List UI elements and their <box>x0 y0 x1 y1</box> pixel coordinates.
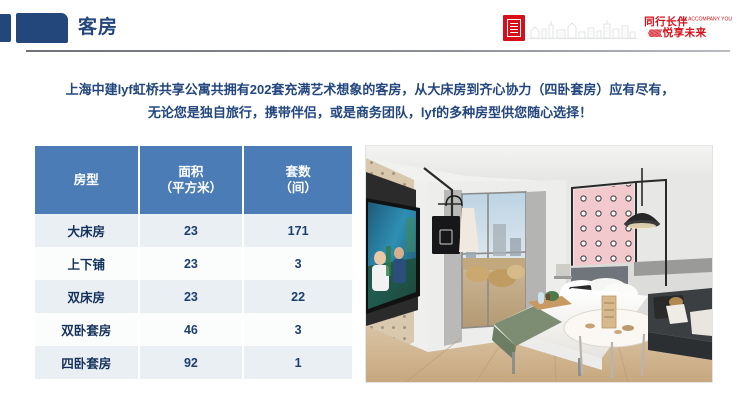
table-row: 上下铺 23 3 <box>35 247 352 280</box>
lead-paragraph: 上海中建lyf虹桥共享公寓共拥有202套充满艺术想象的客房，从大床房到齐心协力（… <box>28 78 712 124</box>
cell-room-type: 四卧套房 <box>35 346 140 379</box>
brand-slogan-superscript: ACCOMPANY YOU <box>688 16 732 22</box>
column-header-area-sub: （平方米） <box>141 180 242 196</box>
cell-room-type: 双床房 <box>35 280 140 313</box>
column-header-area: 面积 （平方米） <box>140 146 245 214</box>
hotel-guest-room-photo <box>366 146 712 382</box>
cell-count: 3 <box>244 247 352 280</box>
room-type-table: 房型 面积 （平方米） 套数 （间） 大床房 23 171 上下铺 23 3 双… <box>35 146 352 379</box>
brand-lockup: 同行长伴ACCOMPANY YOU 《《《《《悦享未来 <box>503 12 732 44</box>
brand-logo-mark-icon <box>503 15 525 41</box>
cell-area: 23 <box>140 247 245 280</box>
table-row: 双床房 23 22 <box>35 280 352 313</box>
cell-area: 46 <box>140 313 245 346</box>
header-accent-bar-large <box>16 13 68 43</box>
column-header-count-label: 套数 <box>286 165 311 179</box>
brand-slogan: 同行长伴ACCOMPANY YOU 《《《《《悦享未来 <box>644 17 732 39</box>
cell-room-type: 双卧套房 <box>35 313 140 346</box>
table-header-row: 房型 面积 （平方米） 套数 （间） <box>35 146 352 214</box>
page-title: 客房 <box>78 13 118 43</box>
cell-area: 23 <box>140 214 245 247</box>
table-row: 大床房 23 171 <box>35 214 352 247</box>
cell-area: 92 <box>140 346 245 379</box>
cell-room-type: 大床房 <box>35 214 140 247</box>
column-header-room-type-label: 房型 <box>74 173 99 187</box>
table-row: 四卧套房 92 1 <box>35 346 352 379</box>
header-divider <box>26 50 730 52</box>
lead-paragraph-line-2: 无论您是独自旅行，携带伴侣，或是商务团队，lyf的多种房型供您随心选择！ <box>28 101 712 124</box>
city-skyline-icon <box>529 17 637 39</box>
column-header-room-type: 房型 <box>35 146 140 214</box>
column-header-count-sub: （间） <box>245 180 351 196</box>
cell-count: 171 <box>244 214 352 247</box>
column-header-area-label: 面积 <box>178 165 203 179</box>
cell-count: 3 <box>244 313 352 346</box>
header-accent-bar-small <box>0 14 11 42</box>
brand-chevrons-icon: 《《《《《 <box>644 29 661 38</box>
cell-room-type: 上下铺 <box>35 247 140 280</box>
cell-count: 22 <box>244 280 352 313</box>
cell-count: 1 <box>244 346 352 379</box>
table-row: 双卧套房 46 3 <box>35 313 352 346</box>
cell-area: 23 <box>140 280 245 313</box>
column-header-count: 套数 （间） <box>244 146 352 214</box>
lead-paragraph-line-1: 上海中建lyf虹桥共享公寓共拥有202套充满艺术想象的客房，从大床房到齐心协力（… <box>28 78 712 101</box>
slide-header: 客房 <box>0 0 740 56</box>
brand-slogan-line2: 悦享未来 <box>663 27 707 39</box>
